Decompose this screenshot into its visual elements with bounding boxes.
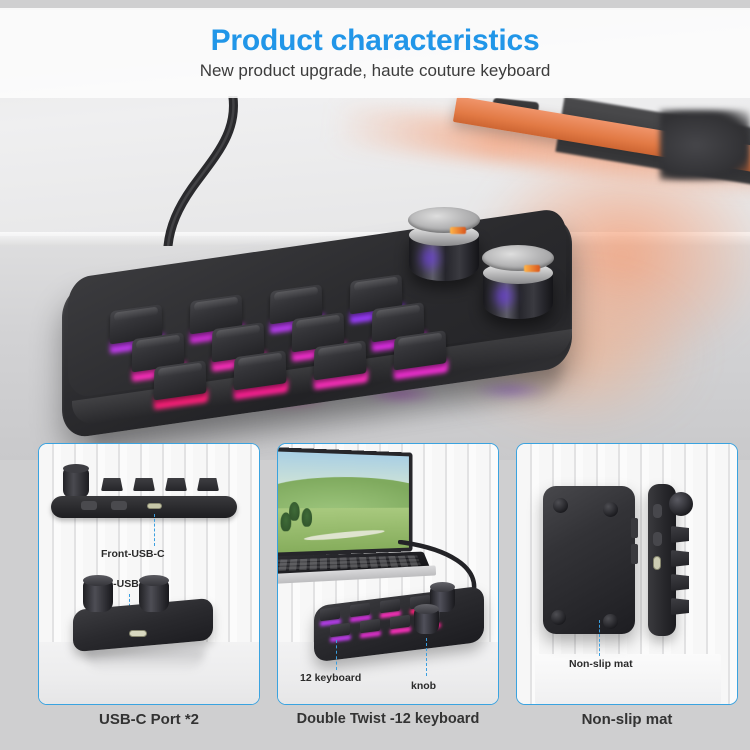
- rotary-knob[interactable]: [482, 245, 554, 323]
- product-feature-page: Product characteristics New product upgr…: [0, 0, 750, 750]
- side-usb-c-port-icon: [129, 630, 147, 637]
- callout-knob: knob: [411, 680, 436, 692]
- non-slip-foot: [553, 498, 568, 513]
- feature-panel-double-twist-keyboard[interactable]: 12 keyboard knob: [277, 443, 499, 705]
- keycap-side-view: [671, 598, 689, 615]
- leader-line-front-usb-c: [154, 514, 155, 546]
- keycap-front-view: [101, 478, 123, 491]
- rotary-knob: [669, 492, 693, 516]
- keycap-front-view: [197, 478, 219, 491]
- side-usb-c-port-icon: [653, 556, 661, 570]
- keycap: [360, 619, 380, 633]
- panel-caption-usb-c-ports: USB-C Port *2: [38, 711, 260, 728]
- callout-front-usb-c: Front-USB-C: [101, 548, 165, 560]
- knob-top-view: [139, 580, 169, 612]
- side-button: [653, 532, 662, 546]
- keycap-side-view: [671, 574, 689, 591]
- page-title: Product characteristics: [211, 25, 540, 57]
- keycap: [390, 615, 410, 629]
- feature-panel-usb-c-ports[interactable]: Front-USB-C Side-USB-C: [38, 443, 260, 705]
- macropad-device: [62, 215, 582, 430]
- leader-line-non-slip-mat: [599, 620, 600, 656]
- rotary-knob[interactable]: [408, 207, 480, 285]
- keycap-side-view: [671, 526, 689, 543]
- page-subtitle: New product upgrade, haute couture keybo…: [200, 61, 551, 81]
- knob-top-view: [83, 580, 113, 612]
- keycap: [320, 607, 340, 621]
- rotary-knob: [414, 608, 439, 634]
- side-button: [111, 501, 127, 510]
- header-banner: Product characteristics New product upgr…: [0, 8, 750, 98]
- keycap: [350, 603, 370, 617]
- keycap-front-view: [165, 478, 187, 491]
- feature-panels: Front-USB-C Side-USB-C USB-C Port *2: [0, 443, 750, 750]
- feature-panel-non-slip-mat[interactable]: Non-slip mat: [516, 443, 738, 705]
- keycap-side-view: [671, 550, 689, 567]
- non-slip-foot: [603, 502, 618, 517]
- device-side-nub: [631, 518, 638, 538]
- leader-line-12-keyboard: [336, 640, 337, 670]
- panel-caption-double-twist-keyboard: Double Twist -12 keyboard: [277, 711, 499, 727]
- front-usb-c-port-icon: [147, 503, 162, 509]
- device-front-edge: [51, 496, 237, 518]
- knob-front-view: [63, 468, 89, 498]
- laptop-screen: [277, 447, 412, 557]
- keycap: [330, 623, 350, 637]
- keycap-front-view: [133, 478, 155, 491]
- side-button: [653, 504, 662, 518]
- panel-caption-non-slip-mat: Non-slip mat: [516, 711, 738, 728]
- callout-non-slip-mat: Non-slip mat: [569, 658, 633, 670]
- device-side-nub: [631, 544, 638, 564]
- non-slip-foot: [603, 614, 618, 629]
- side-button: [81, 501, 97, 510]
- keycap: [380, 599, 400, 613]
- leader-line-knob: [426, 638, 427, 676]
- background-object: [660, 110, 750, 180]
- callout-12-keyboard: 12 keyboard: [300, 672, 361, 684]
- non-slip-foot: [551, 610, 566, 625]
- device-reflection: [85, 650, 205, 672]
